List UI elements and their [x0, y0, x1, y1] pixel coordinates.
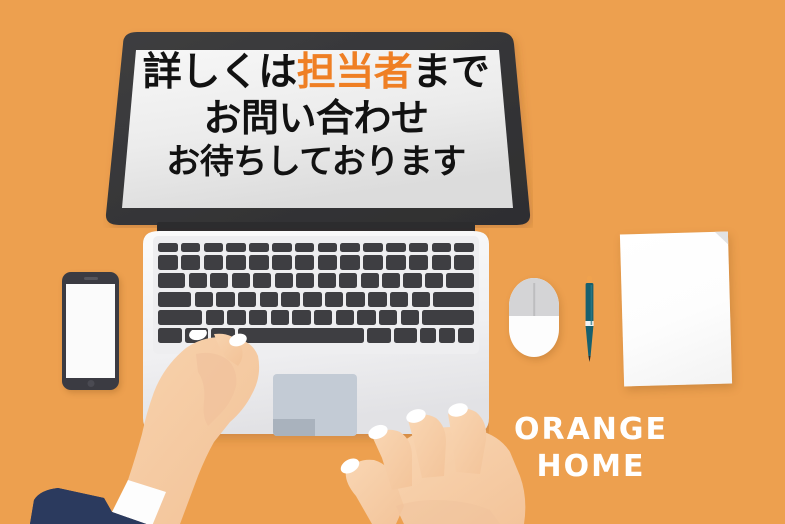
keyboard-key[interactable] [226, 243, 246, 252]
keyboard-key[interactable] [340, 255, 360, 270]
keyboard-key[interactable] [249, 243, 269, 252]
keyboard-key[interactable] [336, 310, 354, 325]
keyboard-key[interactable] [318, 243, 338, 252]
keyboard-key[interactable] [432, 255, 452, 270]
keyboard-key[interactable] [367, 328, 391, 343]
keyboard-key[interactable] [292, 310, 310, 325]
keyboard-key[interactable] [272, 243, 292, 252]
keyboard-key[interactable] [253, 273, 271, 288]
keyboard-key[interactable] [271, 310, 289, 325]
keyboard-key[interactable] [238, 292, 257, 307]
keyboard-key[interactable] [454, 243, 474, 252]
keyboard-row [158, 310, 474, 325]
keyboard-key[interactable] [346, 292, 365, 307]
phone-home-button[interactable] [87, 380, 94, 387]
keyboard-key[interactable] [295, 243, 315, 252]
pen-upper-barrel [586, 283, 594, 327]
keyboard-row [158, 328, 474, 343]
brand-logo-line-1: ORANGE [498, 412, 684, 449]
keyboard-key[interactable] [211, 328, 235, 343]
keyboard-key[interactable] [382, 273, 400, 288]
laptop-screen [122, 50, 513, 208]
keyboard-key[interactable] [275, 273, 293, 288]
keyboard-key[interactable] [158, 273, 185, 288]
mouse-button-divider [533, 283, 535, 316]
keyboard-key[interactable] [181, 243, 201, 252]
keyboard-key[interactable] [412, 292, 431, 307]
keyboard-key[interactable] [386, 243, 406, 252]
keyboard-key[interactable] [249, 310, 267, 325]
keyboard-key[interactable] [446, 273, 473, 288]
keyboard-key[interactable] [296, 273, 314, 288]
keyboard-key[interactable] [210, 273, 228, 288]
smartphone[interactable] [62, 272, 119, 390]
keyboard-key[interactable] [204, 243, 224, 252]
keyboard-key[interactable] [158, 310, 202, 325]
keyboard-key[interactable] [226, 255, 246, 270]
trackpad-click-zone[interactable] [273, 419, 315, 436]
right-hand-nail-1 [338, 455, 362, 476]
keyboard-key[interactable] [361, 273, 379, 288]
keyboard-key[interactable] [439, 328, 455, 343]
left-suit-sleeve-fill [14, 488, 152, 524]
keyboard-row [158, 273, 474, 288]
keyboard-key[interactable] [368, 292, 387, 307]
keyboard-key[interactable] [260, 292, 279, 307]
keyboard-key[interactable] [314, 310, 332, 325]
keyboard-key[interactable] [379, 310, 397, 325]
right-hand-shading [396, 500, 500, 524]
keyboard-key[interactable] [272, 255, 292, 270]
pen-silver-band [585, 321, 593, 326]
keyboard-key[interactable] [386, 255, 406, 270]
keyboard-key[interactable] [227, 310, 245, 325]
keyboard-key[interactable] [340, 243, 360, 252]
keyboard-key[interactable] [394, 328, 418, 343]
pen-lower-barrel [586, 326, 594, 356]
poster-scene: 詳しくは担当者まで お問い合わせ お待ちしております [0, 0, 785, 524]
pen-highlight [591, 285, 593, 325]
brand-logo: ORANGE HOME [498, 412, 684, 485]
keyboard-key[interactable] [420, 328, 436, 343]
computer-mouse[interactable] [509, 278, 559, 357]
keyboard-key[interactable] [454, 255, 474, 270]
keyboard-key[interactable] [432, 243, 452, 252]
keyboard-key[interactable] [422, 310, 474, 325]
keyboard-key[interactable] [409, 255, 429, 270]
brand-logo-line-2: HOME [498, 449, 684, 486]
keyboard-key[interactable] [232, 273, 250, 288]
keyboard-key[interactable] [238, 328, 364, 343]
pen-tip [588, 356, 590, 362]
keyboard-key[interactable] [158, 292, 191, 307]
keyboard-row [158, 243, 474, 252]
keyboard-key[interactable] [204, 255, 224, 270]
keyboard-key[interactable] [425, 273, 443, 288]
laptop-keyboard[interactable] [158, 243, 474, 365]
keyboard-key[interactable] [363, 255, 383, 270]
keyboard-key[interactable] [325, 292, 344, 307]
keyboard-key[interactable] [357, 310, 375, 325]
left-shirt-cuff [112, 480, 166, 524]
keyboard-row [158, 255, 474, 270]
keyboard-key[interactable] [195, 292, 214, 307]
phone-speaker-icon [84, 277, 98, 280]
keyboard-key[interactable] [249, 255, 269, 270]
keyboard-key[interactable] [303, 292, 322, 307]
keyboard-key[interactable] [318, 255, 338, 270]
left-suit-sleeve [30, 488, 152, 524]
keyboard-key[interactable] [158, 255, 178, 270]
paper-sheet[interactable] [620, 232, 732, 387]
keyboard-key[interactable] [185, 328, 209, 343]
keyboard-key[interactable] [403, 273, 421, 288]
keyboard-key[interactable] [295, 255, 315, 270]
keyboard-key[interactable] [363, 243, 383, 252]
keyboard-key[interactable] [158, 328, 182, 343]
keyboard-key[interactable] [281, 292, 300, 307]
keyboard-key[interactable] [339, 273, 357, 288]
keyboard-key[interactable] [158, 243, 178, 252]
keyboard-key[interactable] [206, 310, 224, 325]
keyboard-key[interactable] [318, 273, 336, 288]
keyboard-key[interactable] [390, 292, 409, 307]
keyboard-key[interactable] [401, 310, 419, 325]
paper-folded-corner-icon [715, 232, 728, 245]
keyboard-key[interactable] [216, 292, 235, 307]
phone-screen[interactable] [66, 284, 115, 378]
ballpoint-pen[interactable] [583, 276, 596, 362]
keyboard-key[interactable] [189, 273, 207, 288]
keyboard-key[interactable] [433, 292, 474, 307]
keyboard-row [158, 292, 474, 307]
keyboard-key[interactable] [458, 328, 474, 343]
keyboard-key[interactable] [181, 255, 201, 270]
laptop-lid [103, 28, 533, 228]
right-hand-finger-1 [346, 460, 404, 524]
laptop-trackpad[interactable] [273, 374, 357, 436]
keyboard-key[interactable] [409, 243, 429, 252]
